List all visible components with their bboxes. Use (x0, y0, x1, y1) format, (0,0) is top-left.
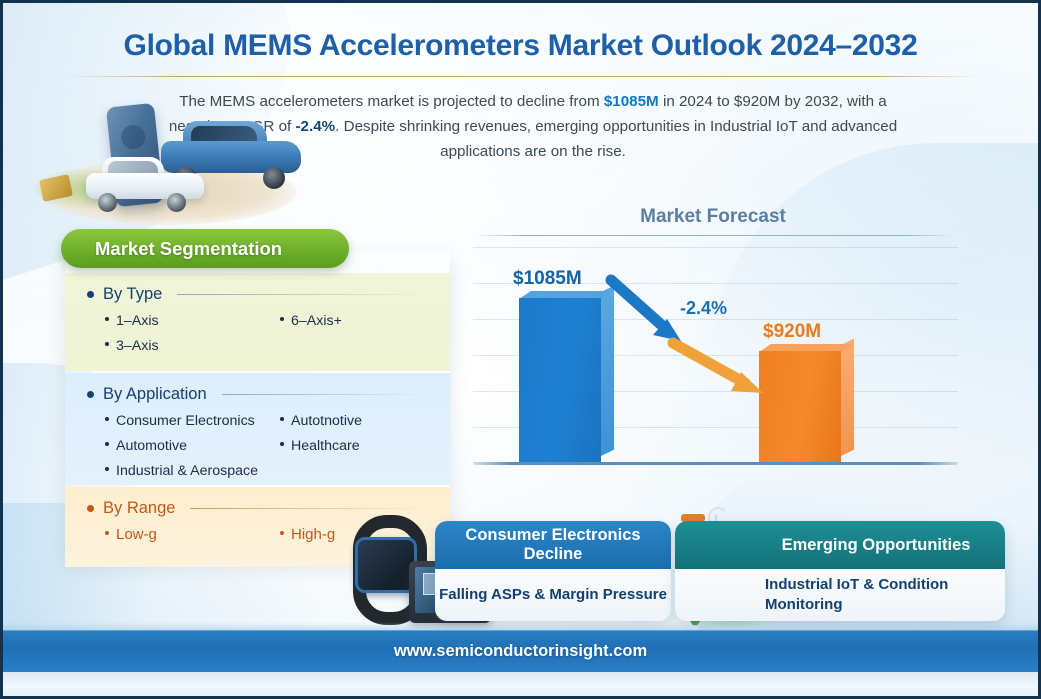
infographic-root: Global MEMS Accelerometers Market Outloo… (0, 0, 1041, 699)
list-item-label: Consumer Electronics (116, 410, 255, 432)
card-consumer-electronics-decline: Consumer Electronics Decline Falling ASP… (435, 521, 671, 621)
list-item: Healthcare (280, 435, 432, 457)
bullet-icon (105, 417, 109, 421)
bullet-icon (105, 317, 109, 321)
card-emerging-opportunities: Emerging Opportunities Industrial IoT & … (675, 521, 1005, 621)
heading-rule (190, 508, 428, 509)
list-item: 3–Axis (105, 335, 272, 357)
card-body-text: Industrial IoT & Condition Monitoring (675, 569, 1005, 621)
segmentation-heading-label: By Type (103, 285, 162, 304)
list-item-label: Industrial & Aerospace (116, 460, 258, 482)
card-header: Emerging Opportunities (675, 521, 1005, 569)
bullet-icon (105, 342, 109, 346)
footer-bottom-strip (3, 672, 1038, 696)
list-item: Industrial & Aerospace (105, 460, 272, 482)
segmentation-section-by-application: By Application Consumer Electronics Auto… (65, 373, 450, 485)
bullet-icon (105, 467, 109, 471)
list-item: Low-g (105, 524, 272, 546)
heading-rule (177, 294, 428, 295)
segmentation-heading-by-application: By Application (87, 373, 450, 404)
list-item-label: Healthcare (291, 435, 360, 457)
bullet-icon (105, 442, 109, 446)
bullet-icon (280, 531, 284, 535)
title-divider (65, 76, 983, 77)
footer-bar: www.semiconductorinsight.com (3, 630, 1038, 672)
list-item: Autotnotive (280, 410, 432, 432)
bullet-icon (105, 531, 109, 535)
devices-and-cars-illustration (11, 99, 313, 227)
segmentation-section-by-type: By Type 1–Axis 3–Axis 6–Axis+ (65, 273, 450, 371)
list-item-label: 1–Axis (116, 310, 159, 332)
list-item: 1–Axis (105, 310, 272, 332)
chart-baseline-axis (473, 462, 958, 465)
smartwatch-face (355, 537, 417, 593)
subtitle-value-2024: $1085M (604, 93, 659, 110)
segmentation-heading-label: By Application (103, 385, 207, 404)
bullet-icon (280, 417, 284, 421)
heading-rule (222, 394, 428, 395)
footer-highlight-strip (3, 622, 1038, 630)
orange-decline-arrow-icon (673, 343, 763, 393)
subtitle-value-2032: $920M (734, 93, 780, 110)
card-body-text: Falling ASPs & Margin Pressure (435, 569, 671, 621)
list-item-label: High-g (291, 524, 335, 546)
bullet-icon (280, 317, 284, 321)
chart-title-divider (475, 235, 953, 236)
bullet-icon (87, 291, 94, 298)
chart-title: Market Forecast (473, 206, 953, 228)
subtitle-text-2: in 2024 to (659, 93, 734, 110)
list-item-label: Low-g (116, 524, 157, 546)
chart-trend-arrows (473, 243, 958, 465)
list-item: Consumer Electronics (105, 410, 272, 432)
page-title: Global MEMS Accelerometers Market Outloo… (3, 29, 1038, 63)
bullet-icon (280, 442, 284, 446)
list-item-label: 6–Axis+ (291, 310, 342, 332)
list-item-label: Automotive (116, 435, 187, 457)
segmentation-heading-label: By Range (103, 499, 175, 518)
subtitle-text-4: . Despite shrinking revenues, emerging o… (335, 118, 897, 160)
list-item-label: 3–Axis (116, 335, 159, 357)
bullet-icon (87, 505, 94, 512)
blue-decline-arrow-icon (611, 280, 681, 341)
market-segmentation-badge-label: Market Segmentation (61, 238, 282, 260)
footer-website-url[interactable]: www.semiconductorinsight.com (394, 642, 647, 661)
bullet-icon (87, 391, 94, 398)
list-item: Automotive (105, 435, 272, 457)
market-segmentation-badge: Market Segmentation (61, 229, 349, 268)
white-car-icon (86, 157, 204, 207)
segmentation-heading-by-type: By Type (87, 273, 450, 304)
card-header: Consumer Electronics Decline (435, 521, 671, 569)
list-item: 6–Axis+ (280, 310, 432, 332)
market-forecast-chart: $1085M $920M -2.4% (473, 243, 958, 465)
list-item-label: Autotnotive (291, 410, 362, 432)
